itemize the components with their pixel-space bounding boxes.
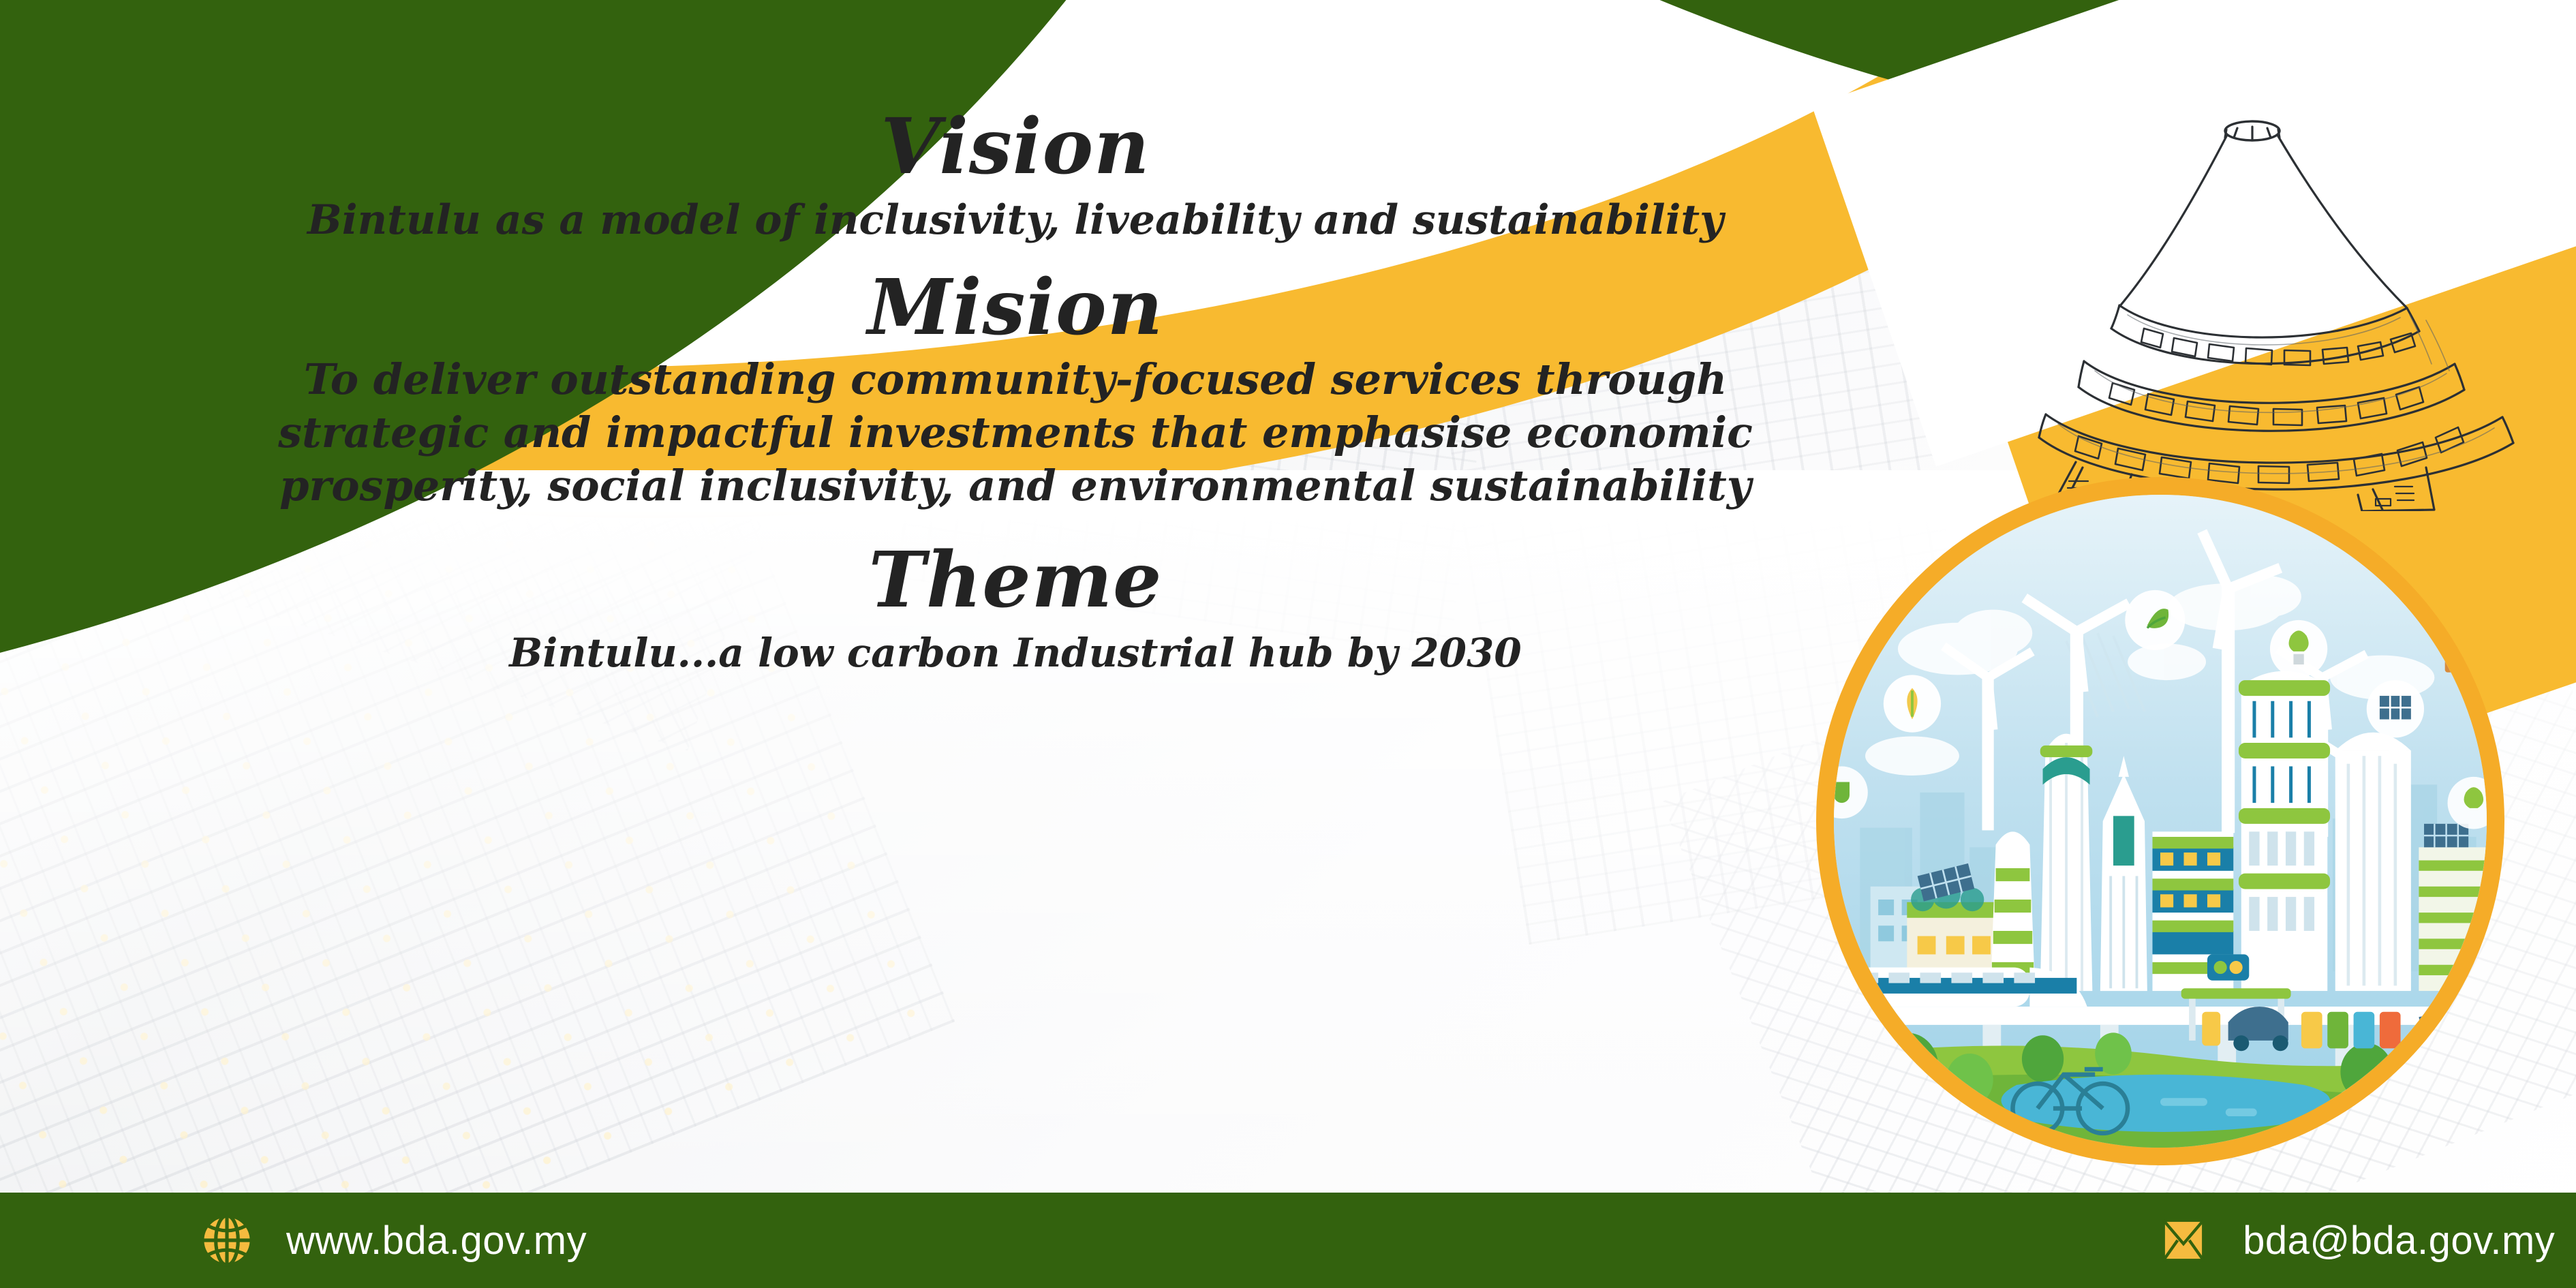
globe-icon <box>198 1211 256 1270</box>
eco-city-illustration <box>1816 477 2504 1165</box>
vision-heading: Vision <box>204 109 1826 185</box>
theme-heading: Theme <box>204 542 1826 619</box>
email-address: bda@bda.gov.my <box>2243 1218 2555 1263</box>
mision-statement-line: strategic and impactful investments that… <box>204 406 1826 459</box>
mision-heading: Mision <box>204 270 1826 346</box>
mision-statement-line: prosperity, social inclusivity, and envi… <box>204 459 1826 512</box>
mision-statement-line: To deliver outstanding community-focused… <box>204 353 1826 406</box>
footer-website[interactable]: www.bda.gov.my <box>198 1211 587 1270</box>
vision-mission-theme-text: Vision Bintulu as a model of inclusivity… <box>204 109 1826 678</box>
footer-bar: www.bda.gov.my bda@bda.gov.my <box>0 1193 2576 1288</box>
conical-pavilion-icon <box>1949 89 2576 511</box>
theme-statement: Bintulu...a low carbon Industrial hub by… <box>204 628 1826 678</box>
website-url: www.bda.gov.my <box>286 1218 587 1263</box>
banner-canvas: Vision Bintulu as a model of inclusivity… <box>0 0 2576 1288</box>
footer-email[interactable]: bda@bda.gov.my <box>2154 1211 2555 1270</box>
envelope-icon <box>2154 1211 2213 1270</box>
vision-statement: Bintulu as a model of inclusivity, livea… <box>204 195 1826 247</box>
mision-statement: To deliver outstanding community-focused… <box>204 353 1826 512</box>
